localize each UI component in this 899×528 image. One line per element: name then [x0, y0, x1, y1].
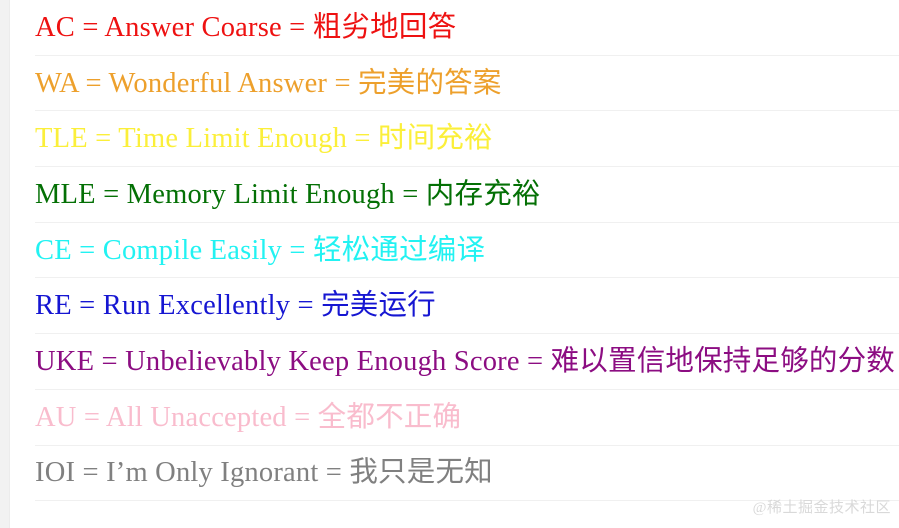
list-item: UKE = Unbelievably Keep Enough Score = 难…	[10, 334, 899, 390]
glossary-line-mle: MLE = Memory Limit Enough = 内存充裕	[35, 180, 541, 210]
glossary-line-ce: CE = Compile Easily = 轻松通过编译	[35, 236, 485, 266]
left-gutter-strip	[0, 0, 10, 528]
list-item: AU = All Unaccepted = 全都不正确	[10, 390, 899, 446]
glossary-line-wa: WA = Wonderful Answer = 完美的答案	[35, 69, 502, 99]
glossary-line-au: AU = All Unaccepted = 全都不正确	[35, 403, 461, 433]
list-item: CE = Compile Easily = 轻松通过编译	[10, 223, 899, 279]
row-separator	[35, 500, 899, 501]
glossary-page: AC = Answer Coarse = 粗劣地回答 WA = Wonderfu…	[0, 0, 899, 528]
list-item: MLE = Memory Limit Enough = 内存充裕	[10, 167, 899, 223]
list-item: RE = Run Excellently = 完美运行	[10, 278, 899, 334]
list-item: WA = Wonderful Answer = 完美的答案	[10, 56, 899, 112]
list-item: TLE = Time Limit Enough = 时间充裕	[10, 111, 899, 167]
glossary-line-re: RE = Run Excellently = 完美运行	[35, 291, 436, 321]
list-item: AC = Answer Coarse = 粗劣地回答	[10, 0, 899, 56]
glossary-line-tle: TLE = Time Limit Enough = 时间充裕	[35, 124, 493, 154]
glossary-line-ac: AC = Answer Coarse = 粗劣地回答	[35, 13, 456, 43]
glossary-line-uke: UKE = Unbelievably Keep Enough Score = 难…	[35, 347, 895, 377]
glossary-list: AC = Answer Coarse = 粗劣地回答 WA = Wonderfu…	[10, 0, 899, 528]
list-item: IOI = I’m Only Ignorant = 我只是无知	[10, 446, 899, 502]
glossary-line-ioi: IOI = I’m Only Ignorant = 我只是无知	[35, 458, 493, 488]
